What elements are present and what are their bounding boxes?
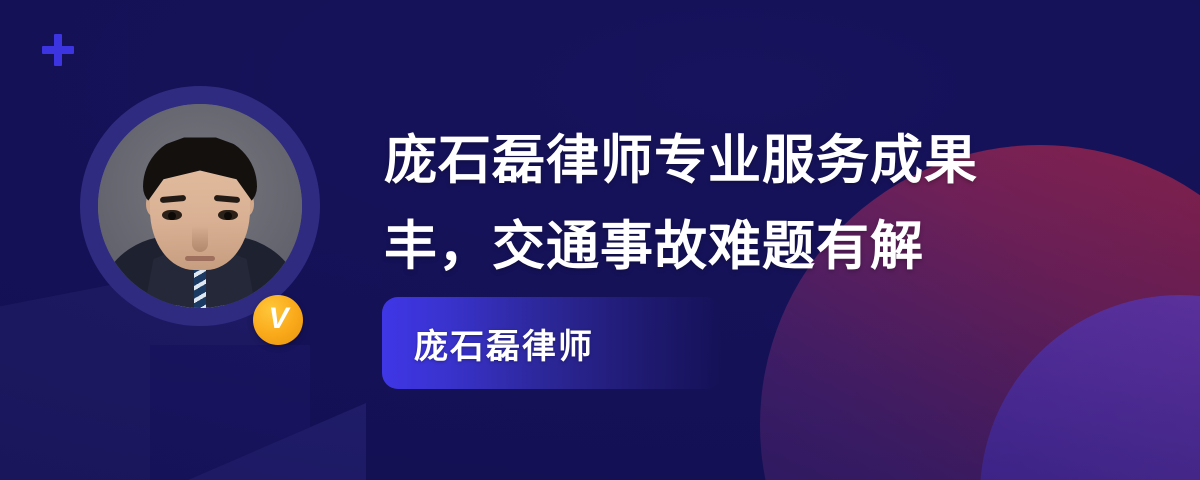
portrait-pupil-right xyxy=(224,212,232,220)
avatar[interactable] xyxy=(80,86,320,326)
verified-badge-label: V xyxy=(268,304,287,334)
decorative-triangle xyxy=(186,403,366,480)
page-title: 庞石磊律师专业服务成果 丰，交通事故难题有解 xyxy=(384,118,1074,290)
portrait-nose xyxy=(192,226,208,252)
portrait-mouth xyxy=(185,256,215,261)
portrait-pupil-left xyxy=(168,212,176,220)
verified-badge-icon[interactable]: V xyxy=(253,295,303,345)
avatar-portrait-photo xyxy=(98,104,302,308)
lawyer-name-label: 庞石磊律师 xyxy=(382,319,594,368)
plus-icon xyxy=(42,34,74,66)
plus-icon-bar-vertical xyxy=(54,34,62,66)
headline-block: 庞石磊律师专业服务成果 丰，交通事故难题有解 xyxy=(384,118,1074,290)
lawyer-profile-banner: V 庞石磊律师专业服务成果 丰，交通事故难题有解 庞石磊律师 xyxy=(0,0,1200,480)
lawyer-name-badge[interactable]: 庞石磊律师 xyxy=(382,297,722,389)
headline-line-2: 丰，交通事故难题有解 xyxy=(384,204,1074,290)
headline-line-1: 庞石磊律师专业服务成果 xyxy=(384,118,1074,204)
